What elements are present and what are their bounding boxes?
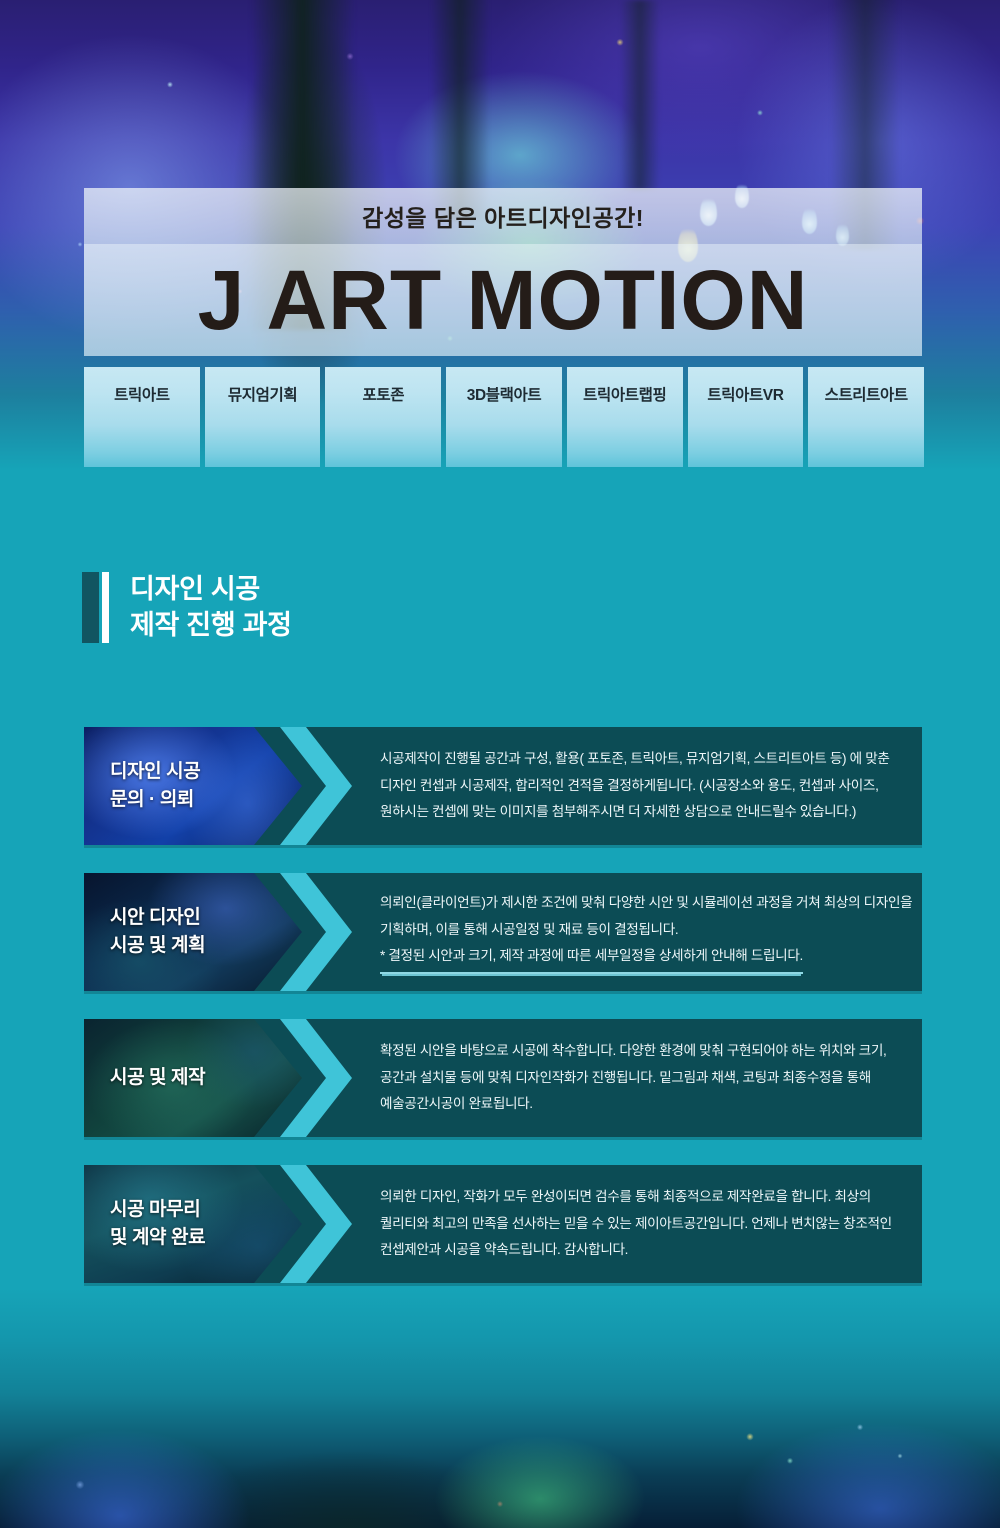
step-text-line: 퀄리티와 최고의 만족을 선사하는 믿을 수 있는 제이아트공간입니다. 언제나… bbox=[380, 1211, 904, 1238]
category-tab-strip: 트릭아트 뮤지엄기획 포토존 3D블랙아트 트릭아트랩핑 트릭아트VR 스트리트… bbox=[84, 367, 924, 467]
mural-tree-silhouette bbox=[430, 0, 490, 220]
section-title-line1: 디자인 시공 bbox=[130, 572, 292, 608]
tab-trick-art-vr[interactable]: 트릭아트VR bbox=[688, 367, 804, 467]
step-text-line: 공간과 설치물 등에 맞춰 디자인작화가 진행됩니다. 밑그림과 채색, 코팅과… bbox=[380, 1065, 904, 1092]
promo-page: 감성을 담은 아트디자인공간! J ART MOTION 트릭아트 뮤지엄기획 … bbox=[0, 0, 1000, 1528]
step-label-text: 시공 및 제작 bbox=[110, 1064, 302, 1092]
tab-trick-art-wrapping[interactable]: 트릭아트랩핑 bbox=[567, 367, 683, 467]
footer-mural-image bbox=[0, 1288, 1000, 1528]
chevron-right-icon bbox=[280, 727, 372, 845]
process-step-2: 시안 디자인 시공 및 계획 의뢰인(클라이언트)가 제시한 조건에 맞춰 다양… bbox=[84, 873, 922, 991]
tab-trick-art[interactable]: 트릭아트 bbox=[84, 367, 200, 467]
step-label-block: 시안 디자인 시공 및 계획 bbox=[84, 873, 302, 991]
step-label-line1: 시공 및 제작 bbox=[110, 1064, 302, 1092]
tab-photo-zone[interactable]: 포토존 bbox=[325, 367, 441, 467]
chevron-right-icon bbox=[280, 1019, 372, 1137]
step-label-line1: 시안 디자인 bbox=[110, 904, 302, 932]
hero-tagline: 감성을 담은 아트디자인공간! bbox=[84, 188, 922, 244]
chevron-right-icon bbox=[280, 1165, 372, 1283]
step-label-line2: 및 계약 완료 bbox=[110, 1224, 302, 1252]
step-label-line2: 문의 · 의뢰 bbox=[110, 786, 302, 814]
step-label-line1: 시공 마무리 bbox=[110, 1196, 302, 1224]
section-heading-text: 디자인 시공 제작 진행 과정 bbox=[130, 572, 292, 643]
step-text-line: 의뢰한 디자인, 작화가 모두 완성이되면 검수를 통해 최종적으로 제작완료을… bbox=[380, 1184, 904, 1211]
chevron-right-icon bbox=[280, 873, 372, 991]
step-label-text: 시안 디자인 시공 및 계획 bbox=[110, 904, 302, 959]
process-step-list: 디자인 시공 문의 · 의뢰 시공제작이 진행될 공간과 구성, 활용( 포토존… bbox=[84, 727, 922, 1311]
step-label-line1: 디자인 시공 bbox=[110, 758, 302, 786]
step-text-line: 원하시는 컨셉에 맞는 이미지를 첨부해주시면 더 자세한 상담으로 안내드릴수… bbox=[380, 799, 904, 826]
process-step-3: 시공 및 제작 확정된 시안을 바탕으로 시공에 착수합니다. 다양한 환경에 … bbox=[84, 1019, 922, 1137]
step-text-line: 예술공간시공이 완료됩니다. bbox=[380, 1091, 904, 1118]
tab-label: 3D블랙아트 bbox=[467, 383, 541, 467]
tab-label: 뮤지엄기획 bbox=[228, 383, 297, 467]
step-text-line: 확정된 시안을 바탕으로 시공에 착수합니다. 다양한 환경에 맞춰 구현되어야… bbox=[380, 1038, 904, 1065]
section-title-line2: 제작 진행 과정 bbox=[130, 608, 292, 644]
step-text-line: 의뢰인(클라이언트)가 제시한 조건에 맞춰 다양한 시안 및 시뮬레이션 과정… bbox=[380, 890, 904, 917]
step-text-line: 컨셉제안과 시공을 약속드립니다. 감사합니다. bbox=[380, 1237, 904, 1264]
step-label-block: 디자인 시공 문의 · 의뢰 bbox=[84, 727, 302, 845]
step-description: 의뢰한 디자인, 작화가 모두 완성이되면 검수를 통해 최종적으로 제작완료을… bbox=[380, 1165, 904, 1283]
tab-3d-black-art[interactable]: 3D블랙아트 bbox=[446, 367, 562, 467]
tab-label: 트릭아트랩핑 bbox=[583, 383, 666, 467]
step-label-line2: 시공 및 계획 bbox=[110, 932, 302, 960]
tab-museum-planning[interactable]: 뮤지엄기획 bbox=[205, 367, 321, 467]
process-step-1: 디자인 시공 문의 · 의뢰 시공제작이 진행될 공간과 구성, 활용( 포토존… bbox=[84, 727, 922, 845]
tab-label: 트릭아트 bbox=[114, 383, 169, 467]
heading-accent-bar-dark bbox=[82, 572, 99, 643]
step-label-text: 디자인 시공 문의 · 의뢰 bbox=[110, 758, 302, 813]
heading-accent-bar-light bbox=[102, 572, 109, 643]
step-description: 의뢰인(클라이언트)가 제시한 조건에 맞춰 다양한 시안 및 시뮬레이션 과정… bbox=[380, 873, 904, 991]
brand-title: J ART MOTION bbox=[84, 246, 922, 354]
step-label-block: 시공 및 제작 bbox=[84, 1019, 302, 1137]
step-description: 시공제작이 진행될 공간과 구성, 활용( 포토존, 트릭아트, 뮤지엄기획, … bbox=[380, 727, 904, 845]
step-text-line: 시공제작이 진행될 공간과 구성, 활용( 포토존, 트릭아트, 뮤지엄기획, … bbox=[380, 746, 904, 773]
step-text-line-note: * 결정된 시안과 크기, 제작 과정에 따른 세부일정을 상세하게 안내해 드… bbox=[380, 943, 803, 974]
tab-label: 스트리트아트 bbox=[825, 383, 908, 467]
process-step-4: 시공 마무리 및 계약 완료 의뢰한 디자인, 작화가 모두 완성이되면 검수를… bbox=[84, 1165, 922, 1283]
mural-tree-silhouette bbox=[620, 0, 660, 190]
section-heading: 디자인 시공 제작 진행 과정 bbox=[82, 572, 292, 643]
step-label-text: 시공 마무리 및 계약 완료 bbox=[110, 1196, 302, 1251]
step-text-line: 기획하며, 이를 통해 시공일정 및 재료 등이 결정됩니다. bbox=[380, 917, 904, 944]
tab-label: 포토존 bbox=[363, 383, 405, 467]
step-description: 확정된 시안을 바탕으로 시공에 착수합니다. 다양한 환경에 맞춰 구현되어야… bbox=[380, 1019, 904, 1137]
step-label-block: 시공 마무리 및 계약 완료 bbox=[84, 1165, 302, 1283]
tab-label: 트릭아트VR bbox=[707, 383, 783, 467]
footer-mural-layer bbox=[0, 1288, 1000, 1528]
tab-street-art[interactable]: 스트리트아트 bbox=[808, 367, 924, 467]
step-text-line: 디자인 컨셉과 시공제작, 합리적인 견적을 결정하게됩니다. (시공장소와 용… bbox=[380, 773, 904, 800]
